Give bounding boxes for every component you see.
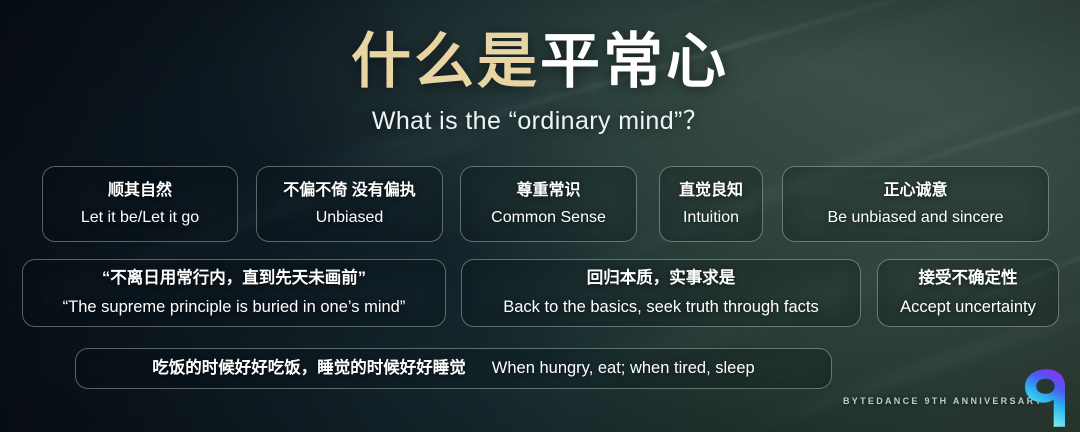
- card-title-en: Unbiased: [316, 208, 384, 227]
- card-zun-zhong-chang-shi[interactable]: 尊重常识 Common Sense: [460, 166, 637, 242]
- card-title-en: Accept uncertainty: [900, 298, 1036, 318]
- card-zheng-xin-cheng-yi[interactable]: 正心诚意 Be unbiased and sincere: [782, 166, 1049, 242]
- card-supreme-principle[interactable]: “不离日用常行内，直到先天未画前” “The supreme principle…: [22, 259, 446, 327]
- card-zhi-jue-liang-zhi[interactable]: 直觉良知 Intuition: [659, 166, 763, 242]
- card-title-en: Common Sense: [491, 208, 606, 227]
- page-title: 什么是平常心: [0, 28, 1080, 95]
- page-subtitle: What is the “ordinary mind”？: [0, 101, 1080, 137]
- card-title-cn: 接受不确定性: [919, 269, 1018, 289]
- card-title-en: Back to the basics, seek truth through f…: [503, 298, 819, 318]
- title-block: 什么是平常心 What is the “ordinary mind”？: [0, 28, 1080, 137]
- page-title-white-part: 平常心: [540, 28, 729, 95]
- page-title-gold-part: 什么是: [351, 28, 540, 95]
- card-title-cn: 顺其自然: [108, 181, 172, 200]
- card-title-en: Be unbiased and sincere: [827, 208, 1003, 227]
- slide-canvas: 什么是平常心 What is the “ordinary mind”？ 顺其自然…: [0, 0, 1080, 432]
- card-title-en: Intuition: [683, 208, 739, 227]
- card-eat-sleep[interactable]: 吃饭的时候好好吃饭，睡觉的时候好好睡觉 When hungry, eat; wh…: [75, 348, 832, 389]
- card-title-cn: “不离日用常行内，直到先天未画前”: [102, 269, 366, 289]
- card-accept-uncertainty[interactable]: 接受不确定性 Accept uncertainty: [877, 259, 1059, 327]
- card-bu-pian-bu-yi[interactable]: 不偏不倚 没有偏执 Unbiased: [256, 166, 443, 242]
- card-shun-qi-zi-ran[interactable]: 顺其自然 Let it be/Let it go: [42, 166, 238, 242]
- card-title-cn: 吃饭的时候好好吃饭，睡觉的时候好好睡觉: [152, 359, 466, 379]
- card-title-cn: 正心诚意: [883, 181, 947, 200]
- card-title-cn: 直觉良知: [679, 181, 743, 200]
- card-back-to-basics[interactable]: 回归本质，实事求是 Back to the basics, seek truth…: [461, 259, 861, 327]
- card-title-en: When hungry, eat; when tired, sleep: [492, 359, 755, 379]
- bytedance-9-logo-icon: [1012, 368, 1068, 428]
- card-title-en: “The supreme principle is buried in one’…: [63, 298, 406, 318]
- card-title-cn: 尊重常识: [516, 181, 580, 200]
- card-title-en: Let it be/Let it go: [81, 208, 199, 227]
- card-title-cn: 回归本质，实事求是: [587, 269, 736, 289]
- card-title-cn: 不偏不倚 没有偏执: [283, 181, 415, 200]
